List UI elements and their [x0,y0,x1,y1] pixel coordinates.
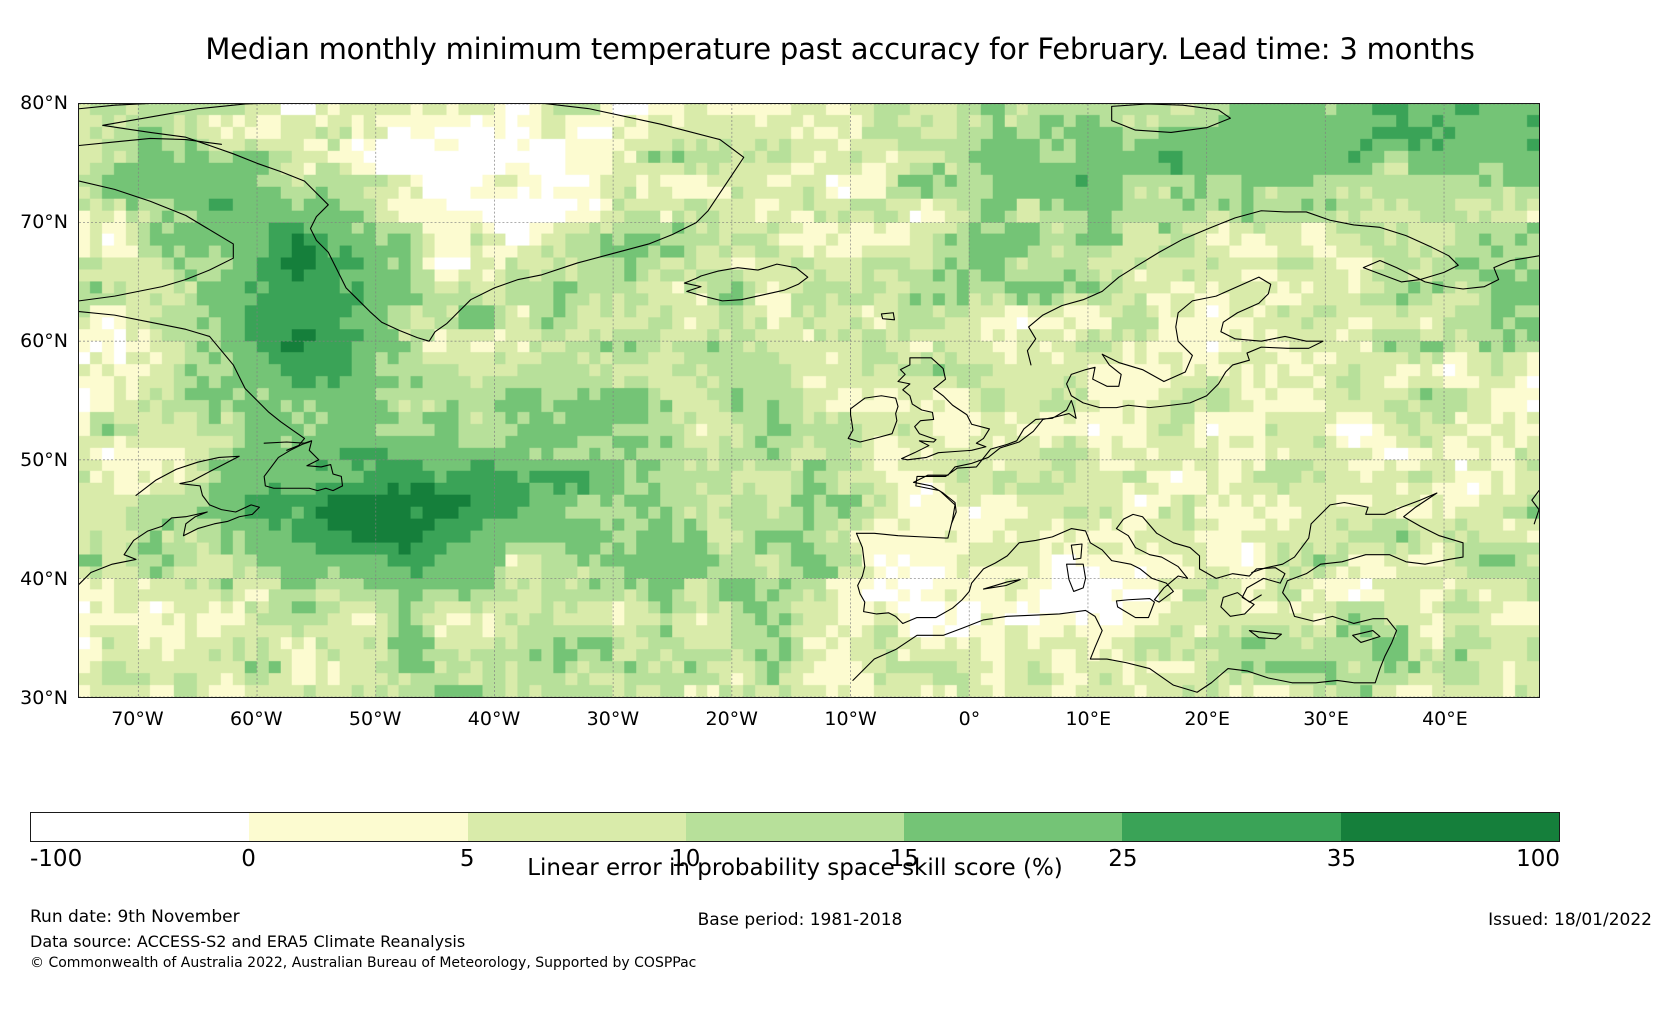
colorbar-segment-6 [1341,813,1559,841]
colorbar-bands [30,812,1560,842]
footer-issued-date: Issued: 18/01/2022 [1488,910,1652,930]
coastline-overlay [79,104,1539,697]
lat-tick-40N: 40°N [0,568,68,590]
lon-tick-10E: 10°E [1065,708,1111,730]
lon-tick-50W: 50°W [349,708,401,730]
coastline-path-15 [856,514,1285,623]
coastline-path-23 [1532,491,1539,524]
coastline-path-7 [684,264,807,301]
coastline-path-12 [898,358,989,460]
coastline-path-8 [1112,104,1231,132]
colorbar[interactable] [30,812,1560,842]
coastline-path-5 [264,441,342,491]
footer-data-source: Data source: ACCESS-S2 and ERA5 Climate … [30,932,465,951]
colorbar-segment-2 [468,813,686,841]
coastline-path-1 [79,104,257,109]
coastline-path-17 [1067,564,1086,591]
lon-tick-20E: 20°E [1184,708,1230,730]
colorbar-segment-0 [31,813,249,841]
coastline-path-0 [103,104,744,341]
lon-tick-30W: 30°W [587,708,639,730]
footer-copyright: © Commonwealth of Australia 2022, Austra… [30,955,696,971]
coastline-path-13 [848,396,898,442]
lon-tick-40E: 40°E [1422,708,1468,730]
lon-tick-40W: 40°W [468,708,520,730]
coastline-path-20 [1353,631,1380,643]
coastline-path-9 [881,313,894,320]
coastline-path-11 [1067,277,1323,407]
colorbar-segment-3 [686,813,904,841]
map-plot-area[interactable] [78,103,1540,698]
lat-tick-30N: 30°N [0,687,68,709]
lon-tick-60W: 60°W [230,708,282,730]
coastline-path-14 [856,401,1076,539]
coastline-path-22 [853,493,1463,692]
lon-tick-70W: 70°W [111,708,163,730]
lon-tick-10W: 10°W [824,708,876,730]
colorbar-segment-4 [904,813,1122,841]
chart-title: Median monthly minimum temperature past … [0,32,1680,66]
lon-tick-0: 0° [959,708,981,730]
colorbar-axis-label: Linear error in probability space skill … [0,855,1590,881]
coastline-path-3 [79,181,233,301]
coastline-path-19 [1249,631,1281,639]
coastline-path-6 [79,456,259,584]
lon-tick-30E: 30°E [1303,708,1349,730]
lat-tick-50N: 50°N [0,449,68,471]
lat-tick-70N: 70°N [0,211,68,233]
figure-root: Median monthly minimum temperature past … [0,0,1680,1020]
coastline-path-10 [1027,211,1539,365]
colorbar-segment-5 [1122,813,1340,841]
coastline-path-18 [1071,544,1082,559]
coastline-path-21 [983,580,1020,589]
colorbar-segment-1 [249,813,467,841]
coastline-path-4 [79,312,305,451]
coastline-path-16 [1116,599,1154,618]
lat-tick-60N: 60°N [0,330,68,352]
footer-base-period: Base period: 1981-2018 [0,910,1600,930]
lat-tick-80N: 80°N [0,92,68,114]
coastline-path-2 [79,138,221,145]
lon-tick-20W: 20°W [706,708,758,730]
